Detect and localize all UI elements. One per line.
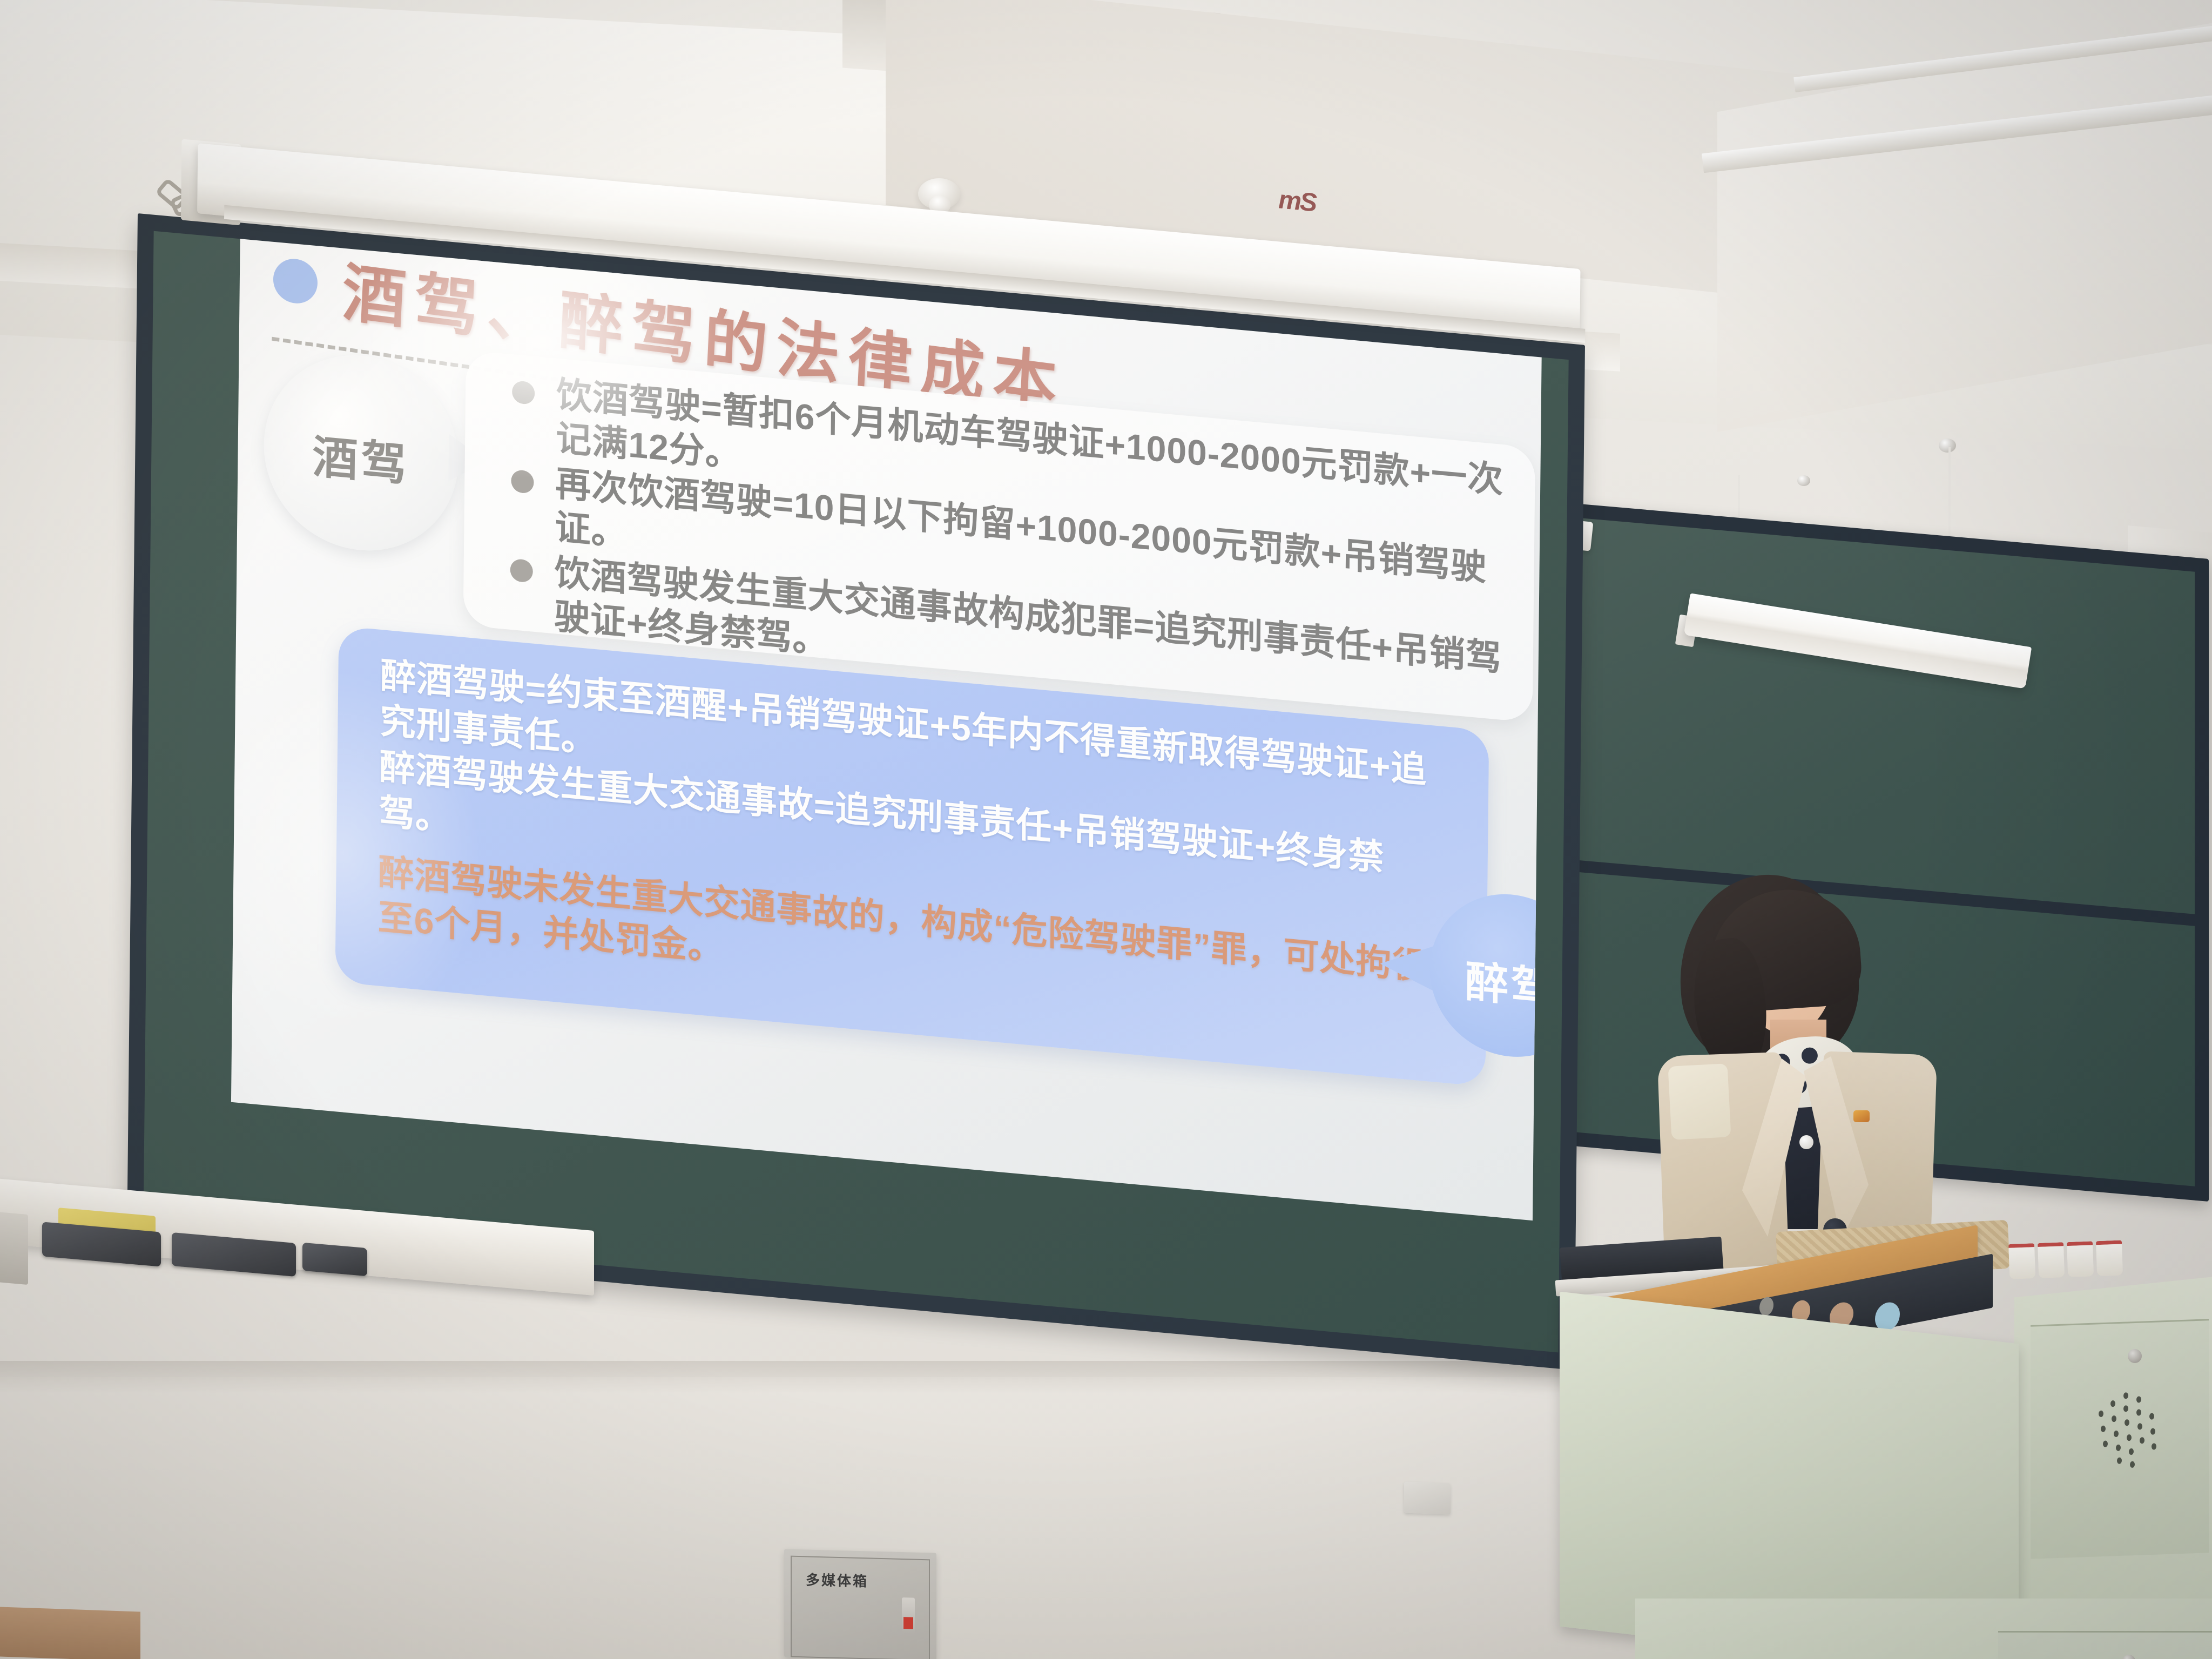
chalk-tray-end-cap — [0, 1211, 28, 1285]
wall-shadow — [0, 1361, 1674, 1393]
screen-brand-logo: mS — [1278, 185, 1316, 218]
multimedia-box-label: 多媒体箱 — [806, 1569, 868, 1590]
multimedia-wall-box[interactable]: 多媒体箱 — [784, 1549, 936, 1659]
callout-bubble-zuijia: 醉驾 — [1429, 887, 1542, 1064]
multimedia-box-door[interactable]: 多媒体箱 — [791, 1556, 930, 1659]
blue-card-text: 醉酒驾驶=约束至酒醒+吊销驾驶证+5年内不得重新取得驾驶证+追究刑事责任。 醉酒… — [377, 652, 1455, 1037]
podium-door-lock[interactable] — [2128, 1349, 2142, 1363]
floor-strip — [0, 1607, 140, 1659]
presenter-shoulder-patch — [1668, 1063, 1731, 1140]
board-eraser-3 — [302, 1243, 367, 1276]
lectern-podium — [1555, 1253, 2212, 1659]
podium-base-door[interactable] — [1998, 1631, 2212, 1659]
presenter-inner-button — [1799, 1135, 1813, 1149]
projected-slide: 酒驾、醉驾的法律成本 酒驾 饮酒驾驶=暂扣6个月机动车驾驶证+1000-2000… — [231, 239, 1542, 1220]
presenter-lapel-pin — [1853, 1110, 1870, 1122]
presenter — [1642, 875, 1944, 1274]
ceiling-hanger-ball-2 — [1797, 475, 1810, 486]
screenshot-root: mS 酒驾、醉驾的法律成本 酒驾 饮酒驾驶=暂扣6个月机动车驾驶证+1000-2… — [0, 0, 2212, 1659]
ceiling-hanger-ball — [1939, 439, 1956, 453]
slide-accent-dot — [273, 257, 318, 305]
podium-speaker-grille — [2095, 1387, 2167, 1480]
multimedia-box-switch[interactable] — [902, 1597, 915, 1634]
callout-label-jiujia: 酒驾 — [264, 416, 458, 499]
projection-screen: mS 酒驾、醉驾的法律成本 酒驾 饮酒驾驶=暂扣6个月机动车驾驶证+1000-2… — [127, 213, 1585, 1370]
wall-power-socket[interactable] — [1404, 1481, 1451, 1514]
callout-bubble-jiujia: 酒驾 — [263, 347, 460, 558]
